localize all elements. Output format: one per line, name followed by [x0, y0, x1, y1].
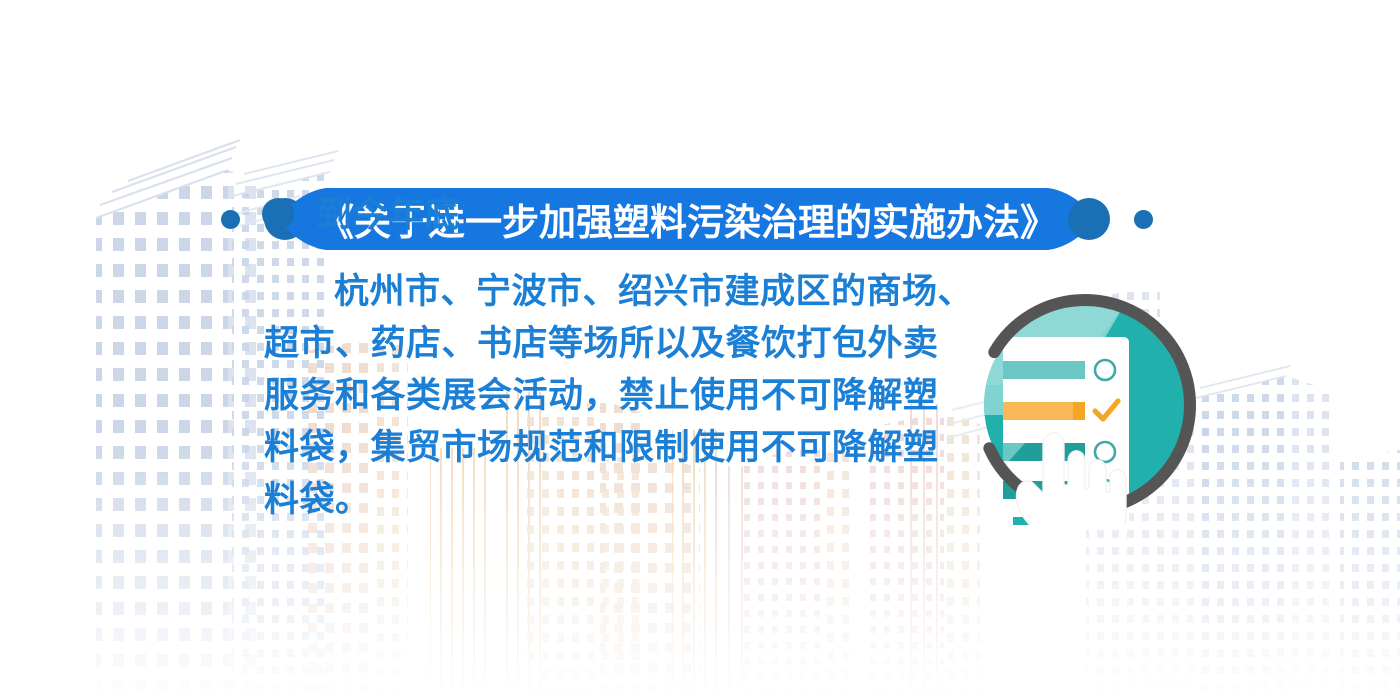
body-paragraph: 杭州市、宁波市、绍兴市建成区的商场、 超市、药店、书店等场所以及餐饮打包外卖 服…: [264, 266, 976, 526]
title-banner: 《关于进一步加强塑料污染治理的实施办法》: [0, 92, 1400, 162]
body-line-3: 服务和各类展会活动，禁止使用不可降解塑: [264, 370, 976, 422]
subheading-label: 到今年底: [316, 196, 460, 232]
decorative-dot-small-right: [1134, 210, 1153, 229]
body-line-1: 杭州市、宁波市、绍兴市建成区的商场、: [264, 266, 976, 318]
body-line-5: 料袋。: [264, 474, 976, 526]
section-subheading: 到今年底: [262, 196, 460, 232]
decorative-dot-small-left: [221, 210, 240, 229]
body-line-4: 料袋，集贸市场规范和限制使用不可降解塑: [264, 422, 976, 474]
checklist-badge-illustration: [965, 285, 1205, 525]
bullet-dot-icon: [262, 198, 294, 230]
poster-canvas: 《关于进一步加强塑料污染治理的实施办法》 到今年底 杭州市、宁波市、绍兴市建成区…: [0, 0, 1400, 700]
body-line-2: 超市、药店、书店等场所以及餐饮打包外卖: [264, 318, 976, 370]
